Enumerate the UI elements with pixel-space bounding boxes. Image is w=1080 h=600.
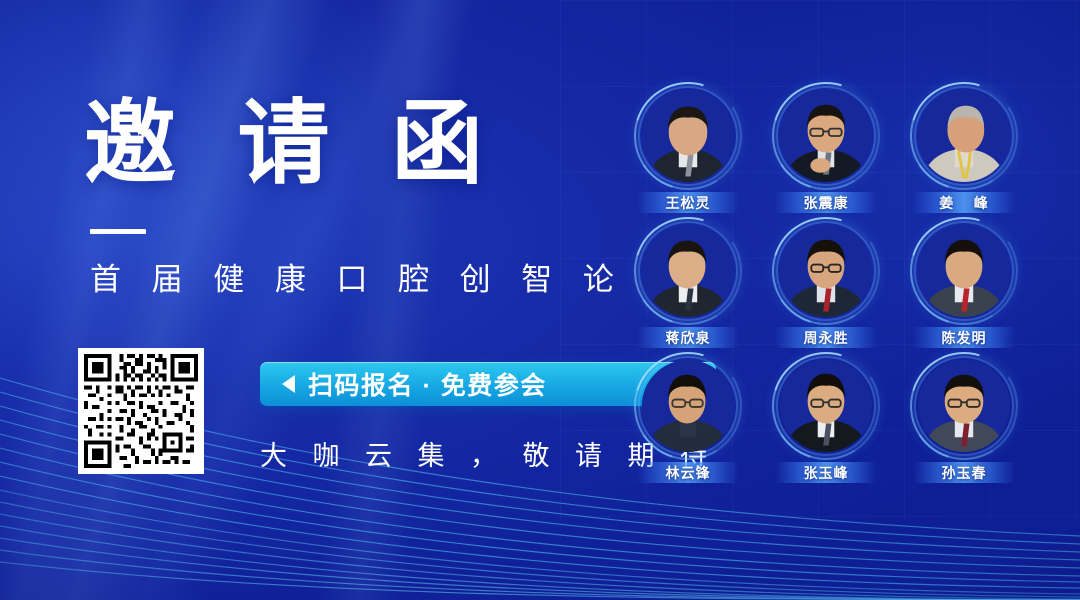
register-button-label: 扫码报名 · 免费参会 <box>308 366 547 402</box>
speaker-name: 张震康 <box>804 193 849 213</box>
avatar <box>776 86 876 186</box>
avatar-arc-secondary <box>900 72 1028 200</box>
status-badge: 姜 峰 <box>913 192 1015 213</box>
status-badge: 蒋欣泉 <box>637 327 739 348</box>
avatar <box>638 221 738 321</box>
avatar-arc-secondary <box>900 207 1028 335</box>
speaker-card[interactable]: 张玉峰 <box>758 356 894 491</box>
speaker-card[interactable]: 周永胜 <box>758 221 894 356</box>
speaker-name: 张玉峰 <box>804 463 849 483</box>
speaker-name: 孙玉春 <box>942 463 987 483</box>
avatar <box>638 356 738 456</box>
avatar <box>776 221 876 321</box>
speaker-card[interactable]: 孙玉春 <box>896 356 1032 491</box>
avatar-arc-secondary <box>624 342 752 470</box>
avatar-arc-secondary <box>624 207 752 335</box>
speaker-card[interactable]: 姜 峰 <box>896 86 1032 221</box>
speaker-card[interactable]: 陈发明 <box>896 221 1032 356</box>
avatar-arc-secondary <box>624 72 752 200</box>
avatar-arc-secondary <box>762 207 890 335</box>
speaker-name: 姜 峰 <box>939 193 989 213</box>
speaker-name: 蒋欣泉 <box>666 328 711 348</box>
speaker-name: 林云锋 <box>666 463 711 483</box>
speaker-name: 王松灵 <box>666 193 711 213</box>
title-divider <box>90 229 146 234</box>
speaker-name: 周永胜 <box>804 328 849 348</box>
qr-code-icon <box>84 354 198 468</box>
avatar <box>638 86 738 186</box>
headline-block: 邀 请 函 首 届 健 康 口 腔 创 智 论 坛 <box>84 96 584 299</box>
status-badge: 王松灵 <box>637 192 739 213</box>
avatar-arc-secondary <box>900 342 1028 470</box>
speaker-card[interactable]: 张震康 <box>758 86 894 221</box>
status-badge: 孙玉春 <box>913 462 1015 483</box>
qr-code[interactable] <box>78 348 204 474</box>
avatar <box>914 356 1014 456</box>
status-badge: 张震康 <box>775 192 877 213</box>
speaker-card[interactable]: 林云锋 <box>620 356 756 491</box>
status-badge: 陈发明 <box>913 327 1015 348</box>
avatar <box>914 86 1014 186</box>
status-badge: 周永胜 <box>775 327 877 348</box>
page-subtitle: 首 届 健 康 口 腔 创 智 论 坛 <box>90 254 584 299</box>
avatar <box>776 356 876 456</box>
invitation-poster: 邀 请 函 首 届 健 康 口 腔 创 智 论 坛 <box>0 0 1080 600</box>
speakers-grid: 王松灵 <box>620 86 1032 491</box>
speaker-name: 陈发明 <box>942 328 987 348</box>
triangle-left-icon <box>282 375 295 393</box>
page-title: 邀 请 函 <box>84 96 584 193</box>
status-badge: 林云锋 <box>637 462 739 483</box>
avatar-arc-secondary <box>762 342 890 470</box>
status-badge: 张玉峰 <box>775 462 877 483</box>
avatar-arc-secondary <box>762 72 890 200</box>
speaker-card[interactable]: 王松灵 <box>620 86 756 221</box>
avatar <box>914 221 1014 321</box>
speaker-card[interactable]: 蒋欣泉 <box>620 221 756 356</box>
